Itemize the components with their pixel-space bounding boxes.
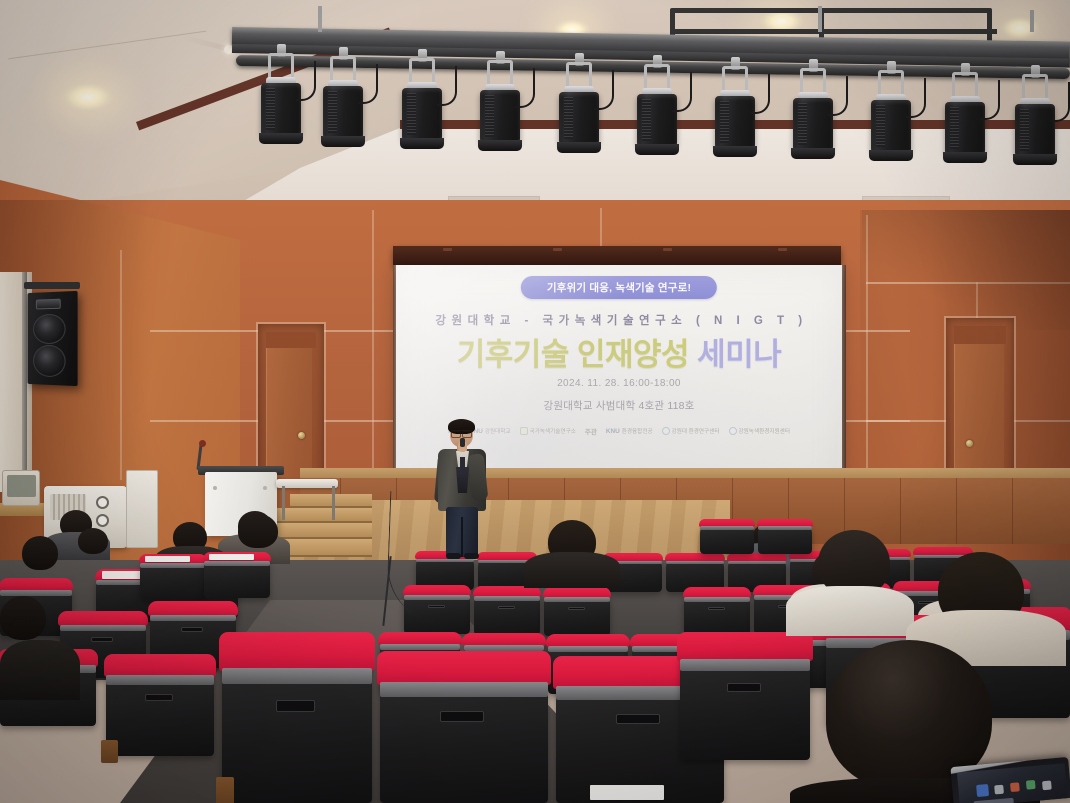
- auditorium-seat[interactable]: [680, 650, 810, 760]
- organizer-logo: 강원대 환경연구센터: [662, 427, 720, 435]
- audience-shoulders: [524, 552, 620, 588]
- curtain-rail: [22, 272, 27, 487]
- presenter-shoe: [446, 553, 461, 559]
- center-logo-icon: [662, 427, 670, 435]
- presenter-leg-split: [461, 517, 463, 557]
- speaker-woofer: [33, 345, 66, 378]
- audience-head: [238, 514, 278, 548]
- wall-shading: [862, 210, 1070, 330]
- stage-handrail: [276, 479, 338, 488]
- handrail-post: [332, 486, 335, 520]
- slide-title: 기후기술 인재양성 세미나: [396, 329, 842, 374]
- equipment-tower: [126, 470, 158, 548]
- left-door-transom: [266, 332, 316, 348]
- organizer-logo: 강원녹색환경지원센터: [729, 427, 790, 435]
- host-logo-text: 국가녹색기술연구소: [530, 427, 576, 435]
- auditorium-seat[interactable]: [758, 524, 812, 554]
- organizer-logo-text: 환경융합전공: [622, 427, 653, 435]
- auditorium-seat[interactable]: [106, 668, 214, 756]
- slide-title-accent: 세미나: [697, 337, 781, 372]
- seat-label-sticker: [145, 556, 190, 562]
- slide-subtitle: 강원대학교 - 국가녹색기술연구소 ( N I G T ): [396, 312, 842, 328]
- auditorium-seat[interactable]: [544, 594, 610, 636]
- glasses-icon: [451, 430, 472, 435]
- auditorium-seat[interactable]: [474, 593, 540, 635]
- truss-hanger: [318, 6, 322, 32]
- knu-logo-mark: KNU: [606, 428, 620, 435]
- slide-venue: 강원대학교 사범대학 4호관 118호: [396, 398, 842, 413]
- wall-panel-seam: [372, 210, 374, 480]
- microphone-icon: [199, 440, 206, 447]
- left-door-knob-icon[interactable]: [298, 432, 305, 439]
- presenter-tie: [460, 457, 465, 474]
- presenter-shoe: [464, 553, 479, 559]
- auditorium-seat[interactable]: [140, 560, 206, 600]
- truss-hanger: [1030, 10, 1034, 32]
- seat-label-sticker: [209, 554, 254, 560]
- pa-speaker: [28, 291, 78, 386]
- auditorium-seat[interactable]: [684, 594, 750, 636]
- speaker-tweeter: [36, 299, 61, 310]
- laptop-screen: [957, 763, 1068, 803]
- projection-screen-housing: [393, 246, 841, 266]
- auditorium-seat[interactable]: [222, 656, 372, 803]
- ceiling-downlight-icon: [1000, 16, 1040, 40]
- presenter: [434, 421, 490, 557]
- auditorium-seat[interactable]: [700, 524, 754, 554]
- organizer-label: 주관: [585, 426, 597, 436]
- host-logo: 국가녹색기술연구소: [520, 427, 576, 435]
- nigt-logo-icon: [520, 427, 528, 435]
- audience-head: [78, 528, 108, 554]
- organizer-logo-text: 강원녹색환경지원센터: [739, 427, 790, 435]
- speaker-woofer: [33, 314, 66, 344]
- slide-datetime: 2024. 11. 28. 16:00-18:00: [396, 378, 842, 389]
- organizer-logo: KNU 환경융합전공: [606, 427, 653, 435]
- auditorium-seat[interactable]: [204, 558, 270, 598]
- auditorium-seat[interactable]: [380, 672, 548, 803]
- handrail-post: [282, 486, 285, 520]
- organizer-logo-text: 강원대 환경연구센터: [672, 427, 720, 435]
- right-door-knob-icon[interactable]: [966, 440, 973, 447]
- truss-hanger: [818, 6, 822, 32]
- auditorium-photo: 기후위기 대응, 녹색기술 연구로! 강원대학교 - 국가녹색기술연구소 ( N…: [0, 0, 1070, 803]
- audience-head: [22, 536, 58, 570]
- green-center-logo-icon: [729, 427, 737, 435]
- audience-shoulders: [0, 640, 80, 700]
- slide-ribbon-banner: 기후위기 대응, 녹색기술 연구로!: [521, 276, 717, 299]
- slide-title-main: 기후기술 인재양성: [457, 337, 689, 372]
- ceiling-downlight-icon: [62, 82, 114, 112]
- audience-shoulders: [786, 586, 914, 636]
- audience-head: [0, 596, 46, 640]
- handheld-microphone-icon: [460, 438, 465, 447]
- right-door-transom: [954, 326, 1006, 344]
- av-monitor: [2, 470, 40, 506]
- speaker-bracket: [24, 282, 80, 289]
